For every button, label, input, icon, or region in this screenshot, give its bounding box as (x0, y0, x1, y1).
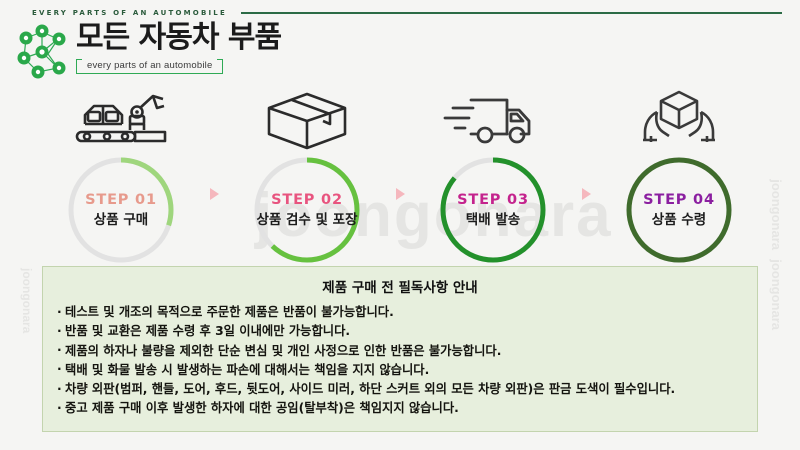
step-number-4: STEP 04 (643, 191, 715, 209)
notice-line: 차량 외판(범퍼, 핸들, 도어, 후드, 뒷도어, 사이드 미러, 하단 스커… (57, 379, 743, 398)
network-nodes-icon (14, 24, 72, 80)
header-eyebrow-row: EVERY PARTS OF AN AUTOMOBILE (0, 5, 800, 21)
notice-line: 반품 및 교환은 제품 수령 후 3일 이내에만 가능합니다. (57, 322, 743, 341)
step-number-2: STEP 02 (256, 191, 357, 209)
play-triangle-icon (582, 188, 591, 200)
notice-line: 제품의 하자나 불량을 제외한 단순 변심 및 개인 사정으로 인한 반품은 불… (57, 341, 743, 360)
car-assembly-line-icon (67, 86, 175, 152)
step-number-3: STEP 03 (457, 191, 529, 209)
step-arrow-1 (201, 86, 227, 200)
notice-title: 제품 구매 전 필독사항 안내 (57, 276, 743, 296)
play-triangle-icon (396, 188, 405, 200)
brand-logo-block: 모든 자동차 부품 every parts of an automobile (14, 22, 281, 80)
step-name-3: 택배 발송 (457, 212, 529, 229)
eyebrow-text: EVERY PARTS OF AN AUTOMOBILE (32, 9, 227, 17)
watermark-right-2: joongonara (769, 259, 784, 330)
step-ring-2: STEP 02 상품 검수 및 포장 (251, 154, 363, 266)
header-divider (241, 12, 782, 14)
watermark-left-1: joongonara (20, 268, 34, 333)
notice-line: 택배 및 화물 발송 시 발생하는 파손에 대해서는 책임을 지지 않습니다. (57, 360, 743, 379)
step-name-2: 상품 검수 및 포장 (256, 212, 357, 229)
step-item-1[interactable]: STEP 01 상품 구매 (41, 86, 201, 266)
step-number-1: STEP 01 (85, 191, 157, 209)
step-item-2[interactable]: STEP 02 상품 검수 및 포장 (227, 86, 387, 266)
step-ring-3: STEP 03 택배 발송 (437, 154, 549, 266)
step-name-4: 상품 수령 (643, 212, 715, 229)
package-box-icon (259, 86, 355, 152)
step-item-3[interactable]: STEP 03 택배 발송 (413, 86, 573, 266)
brand-subtitle: every parts of an automobile (76, 59, 223, 74)
step-item-4[interactable]: STEP 04 상품 수령 (599, 86, 759, 266)
notice-box: 제품 구매 전 필독사항 안내 테스트 및 개조의 목적으로 주문한 제품은 반… (42, 266, 758, 432)
brand-title: 모든 자동차 부품 (76, 22, 281, 54)
play-triangle-icon (210, 188, 219, 200)
notice-line: 중고 제품 구매 이후 발생한 하자에 대한 공임(탈부착)은 책임지지 않습니… (57, 398, 743, 417)
step-arrow-3 (573, 86, 599, 200)
delivery-truck-icon (441, 86, 545, 152)
hands-holding-box-icon (631, 86, 727, 152)
step-ring-1: STEP 01 상품 구매 (65, 154, 177, 266)
step-arrow-2 (387, 86, 413, 200)
steps-strip: STEP 01 상품 구매 STEP 02 (0, 86, 800, 256)
step-name-1: 상품 구매 (85, 212, 157, 229)
step-ring-4: STEP 04 상품 수령 (623, 154, 735, 266)
notice-line: 테스트 및 개조의 목적으로 주문한 제품은 반품이 불가능합니다. (57, 303, 743, 322)
